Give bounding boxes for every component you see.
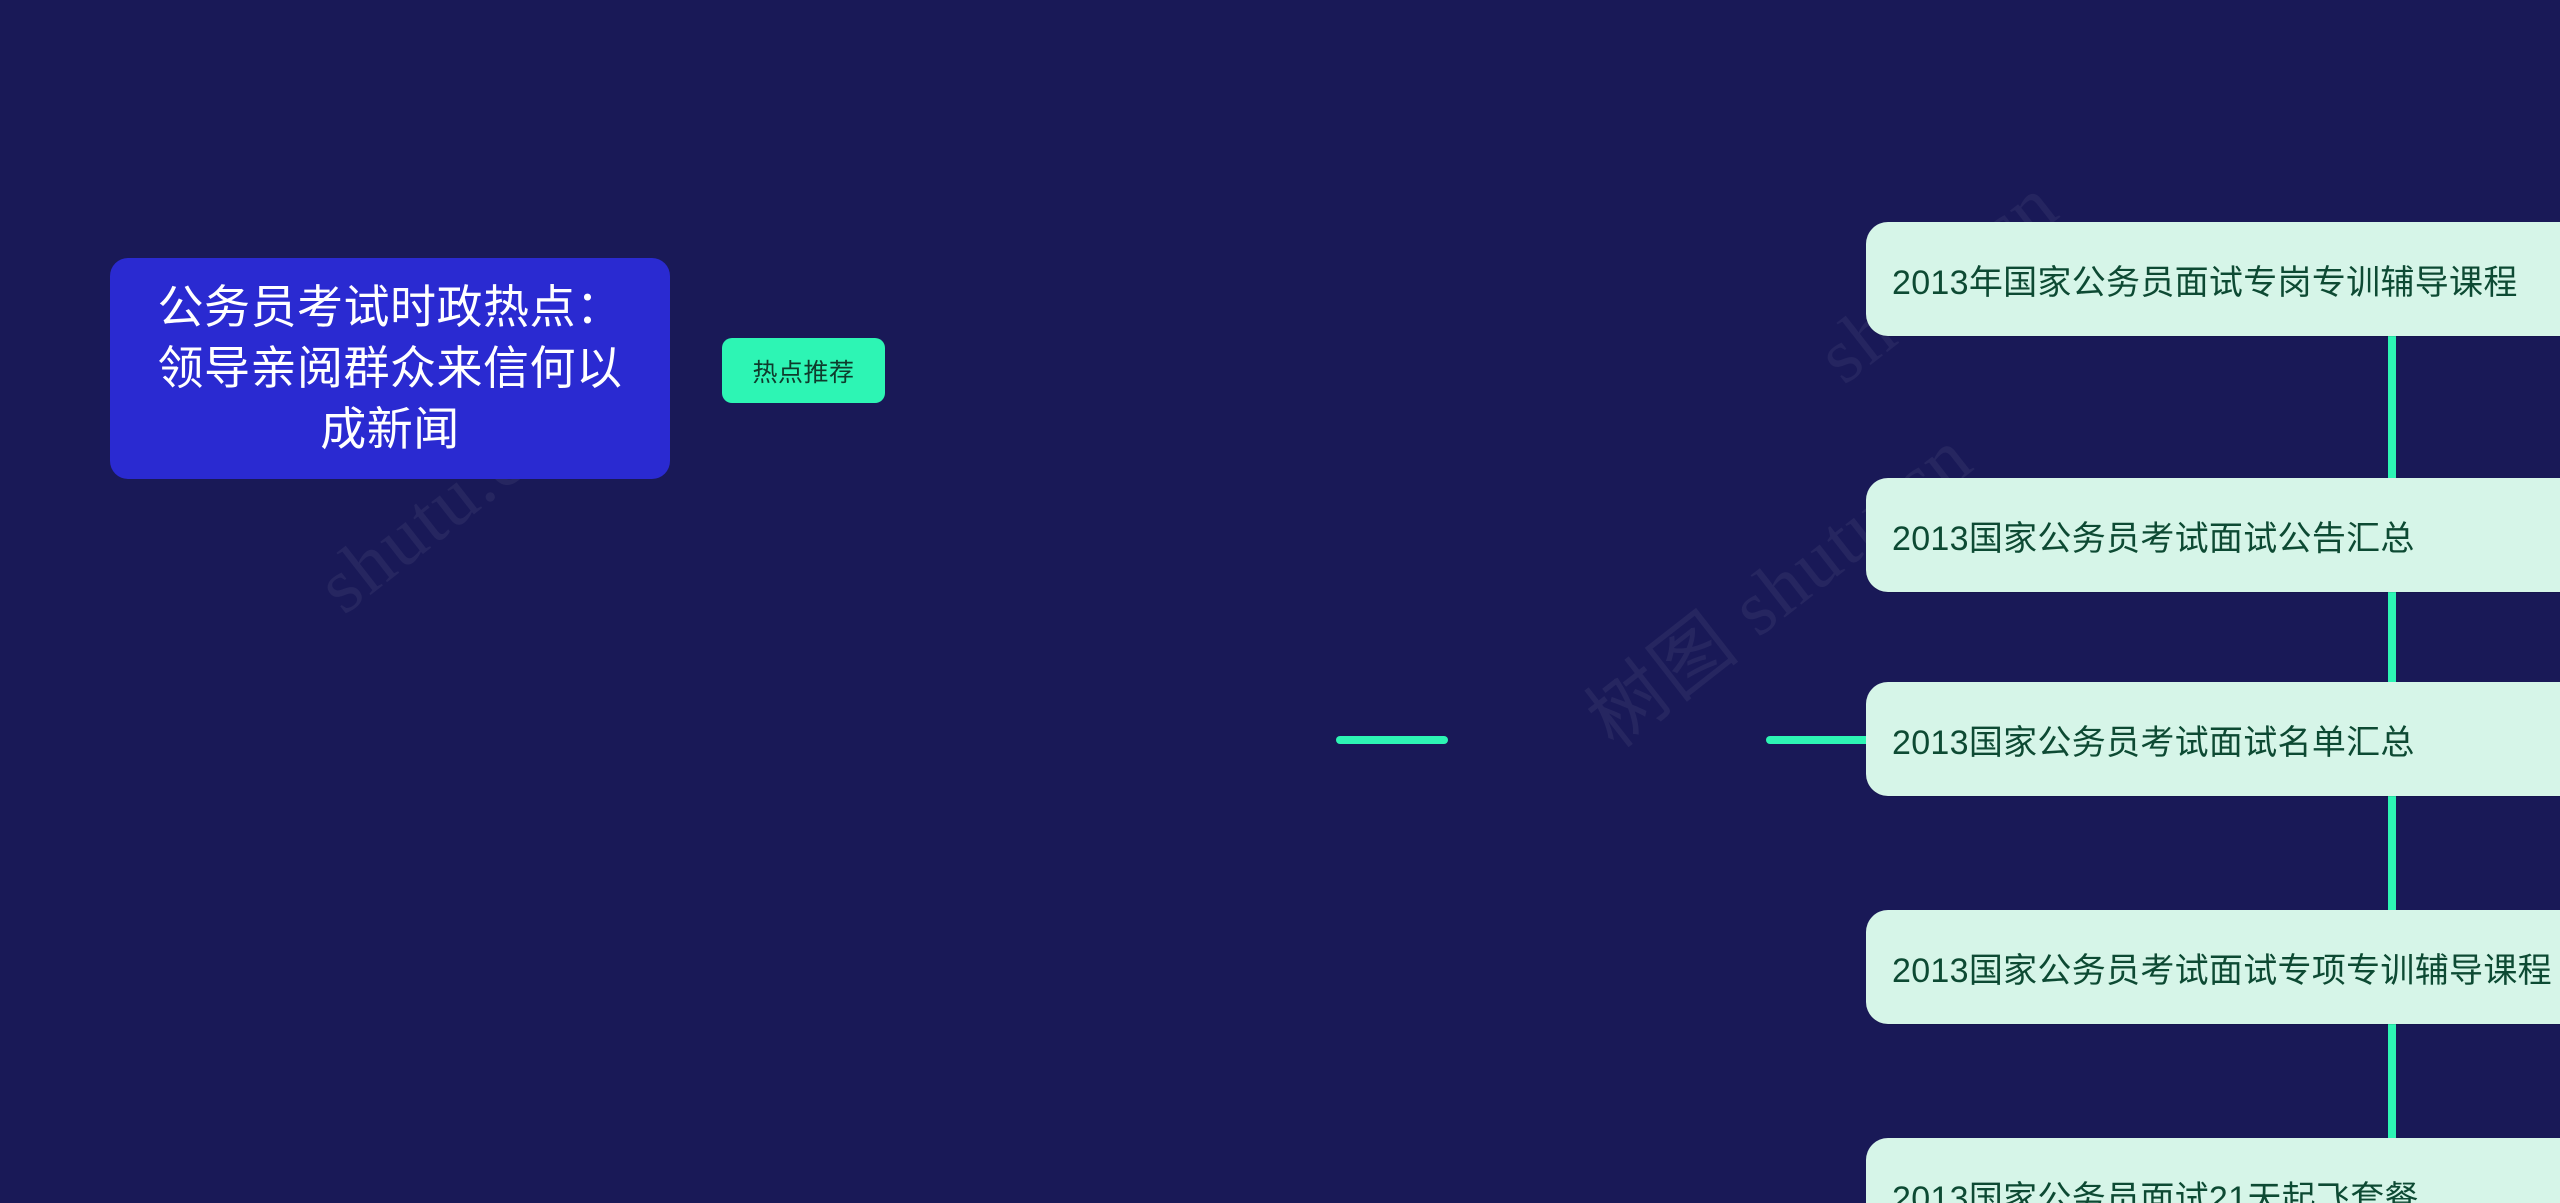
leaf-node-label: 2013国家公务员考试面试名单汇总 bbox=[1892, 715, 2415, 764]
leaf-node-label: 2013国家公务员考试面试专项专训辅导课程 bbox=[1892, 943, 2552, 992]
leaf-node-label: 2013年国家公务员面试专岗专训辅导课程 bbox=[1892, 255, 2518, 304]
leaf-node-label: 2013国家公务员考试面试公告汇总 bbox=[1892, 511, 2415, 560]
leaf-node[interactable]: 2013国家公务员面试21天起飞套餐 bbox=[1866, 1138, 2560, 1203]
leaf-node[interactable]: 2013国家公务员考试面试专项专训辅导课程 bbox=[1866, 910, 2560, 1024]
leaf-node[interactable]: 2013年国家公务员面试专岗专训辅导课程 bbox=[1866, 222, 2560, 336]
root-node[interactable]: 公务员考试时政热点：领导亲阅群众来信何以成新闻 bbox=[110, 258, 670, 479]
root-node-label: 公务员考试时政热点：领导亲阅群众来信何以成新闻 bbox=[136, 277, 644, 459]
mindmap-canvas: shutu.cn 树图 shutu.cn shutu.cn 公务员考试时政热点：… bbox=[0, 0, 2560, 1203]
branch-node-hot-recommend[interactable]: 热点推荐 bbox=[722, 338, 885, 403]
leaf-node-label: 2013国家公务员面试21天起飞套餐 bbox=[1892, 1171, 2419, 1203]
leaf-node[interactable]: 2013国家公务员考试面试公告汇总 bbox=[1866, 478, 2560, 592]
leaf-node[interactable]: 2013国家公务员考试面试名单汇总 bbox=[1866, 682, 2560, 796]
branch-node-label: 热点推荐 bbox=[752, 353, 854, 389]
